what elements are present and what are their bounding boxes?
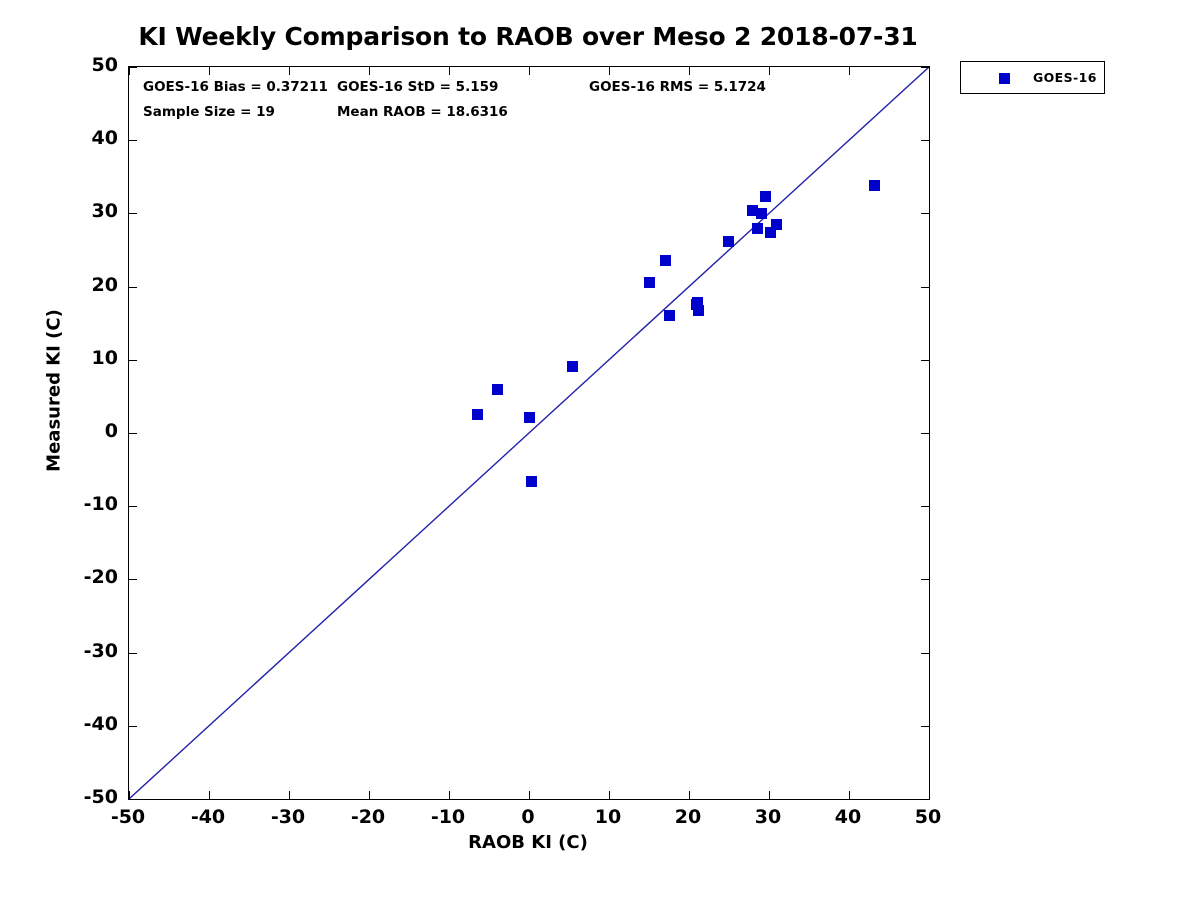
x-tick: [609, 791, 610, 799]
y-tick: [129, 726, 137, 727]
x-tick-top: [369, 67, 370, 75]
data-point: [869, 180, 880, 191]
x-tick-top: [449, 67, 450, 75]
x-tick: [289, 791, 290, 799]
x-tick: [529, 791, 530, 799]
y-axis-title: Measured KI (C): [44, 291, 65, 491]
x-tick-top: [529, 67, 530, 75]
y-tick: [129, 506, 137, 507]
data-point: [691, 299, 702, 310]
x-tick-top: [209, 67, 210, 75]
data-point: [760, 191, 771, 202]
data-point: [524, 412, 535, 423]
y-tick-label: 40: [48, 127, 118, 149]
data-point: [771, 219, 782, 230]
x-tick-top: [289, 67, 290, 75]
y-tick: [129, 67, 137, 68]
y-tick-label: -20: [48, 566, 118, 588]
x-tick: [209, 791, 210, 799]
y-tick-label: -10: [48, 493, 118, 515]
stat-rms: GOES-16 RMS = 5.1724: [589, 79, 766, 95]
y-tick-right: [921, 653, 929, 654]
x-tick-label: 50: [888, 806, 968, 828]
y-tick: [129, 287, 137, 288]
x-tick-label: -40: [168, 806, 248, 828]
y-tick-right: [921, 67, 929, 68]
y-tick: [129, 433, 137, 434]
x-tick: [129, 791, 130, 799]
y-tick-right: [921, 213, 929, 214]
y-tick-right: [921, 506, 929, 507]
y-tick-right: [921, 140, 929, 141]
data-point: [723, 236, 734, 247]
data-point: [660, 255, 671, 266]
stat-mean-raob: Mean RAOB = 18.6316: [337, 104, 508, 120]
x-tick-label: 10: [568, 806, 648, 828]
x-tick-label: 40: [808, 806, 888, 828]
y-tick-right: [921, 287, 929, 288]
y-tick: [129, 579, 137, 580]
y-tick: [129, 140, 137, 141]
x-tick: [689, 791, 690, 799]
legend-label-goes-16: GOES-16: [1033, 70, 1097, 85]
stat-sample-size: Sample Size = 19: [143, 104, 275, 120]
x-tick-label: -10: [408, 806, 488, 828]
data-point: [567, 361, 578, 372]
y-tick-right: [921, 726, 929, 727]
y-tick-right: [921, 579, 929, 580]
one-to-one-line: [129, 67, 929, 799]
x-tick-top: [769, 67, 770, 75]
x-tick: [769, 791, 770, 799]
y-tick-label: 50: [48, 54, 118, 76]
data-point: [752, 223, 763, 234]
x-tick-top: [129, 67, 130, 75]
x-tick-top: [609, 67, 610, 75]
data-point: [756, 208, 767, 219]
y-tick-right: [921, 433, 929, 434]
x-axis-title: RAOB KI (C): [128, 832, 928, 853]
page-title: KI Weekly Comparison to RAOB over Meso 2…: [128, 22, 928, 51]
y-tick-label: -40: [48, 713, 118, 735]
legend-swatch-goes-16: [999, 73, 1010, 84]
y-tick: [129, 653, 137, 654]
data-point: [472, 409, 483, 420]
x-tick-label: 0: [488, 806, 568, 828]
x-tick-top: [849, 67, 850, 75]
data-point: [526, 476, 537, 487]
plot-inner: GOES-16 Bias = 0.37211 GOES-16 StD = 5.1…: [129, 67, 929, 799]
y-tick-label: 30: [48, 200, 118, 222]
x-tick: [369, 791, 370, 799]
stat-bias: GOES-16 Bias = 0.37211: [143, 79, 328, 95]
x-tick-label: -50: [88, 806, 168, 828]
data-point: [644, 277, 655, 288]
plot-area: GOES-16 Bias = 0.37211 GOES-16 StD = 5.1…: [128, 66, 930, 800]
y-tick: [129, 360, 137, 361]
y-tick-label: -30: [48, 640, 118, 662]
stat-std: GOES-16 StD = 5.159: [337, 79, 498, 95]
y-tick-label: -50: [48, 786, 118, 808]
x-tick-top: [689, 67, 690, 75]
x-tick: [449, 791, 450, 799]
data-point: [492, 384, 503, 395]
x-tick-label: -20: [328, 806, 408, 828]
legend: GOES-16: [960, 61, 1105, 94]
data-point: [664, 310, 675, 321]
y-tick: [129, 213, 137, 214]
y-tick-right: [921, 360, 929, 361]
x-tick-label: 20: [648, 806, 728, 828]
x-tick-label: 30: [728, 806, 808, 828]
x-tick: [849, 791, 850, 799]
x-tick-label: -30: [248, 806, 328, 828]
chart-figure: KI Weekly Comparison to RAOB over Meso 2…: [0, 0, 1200, 900]
